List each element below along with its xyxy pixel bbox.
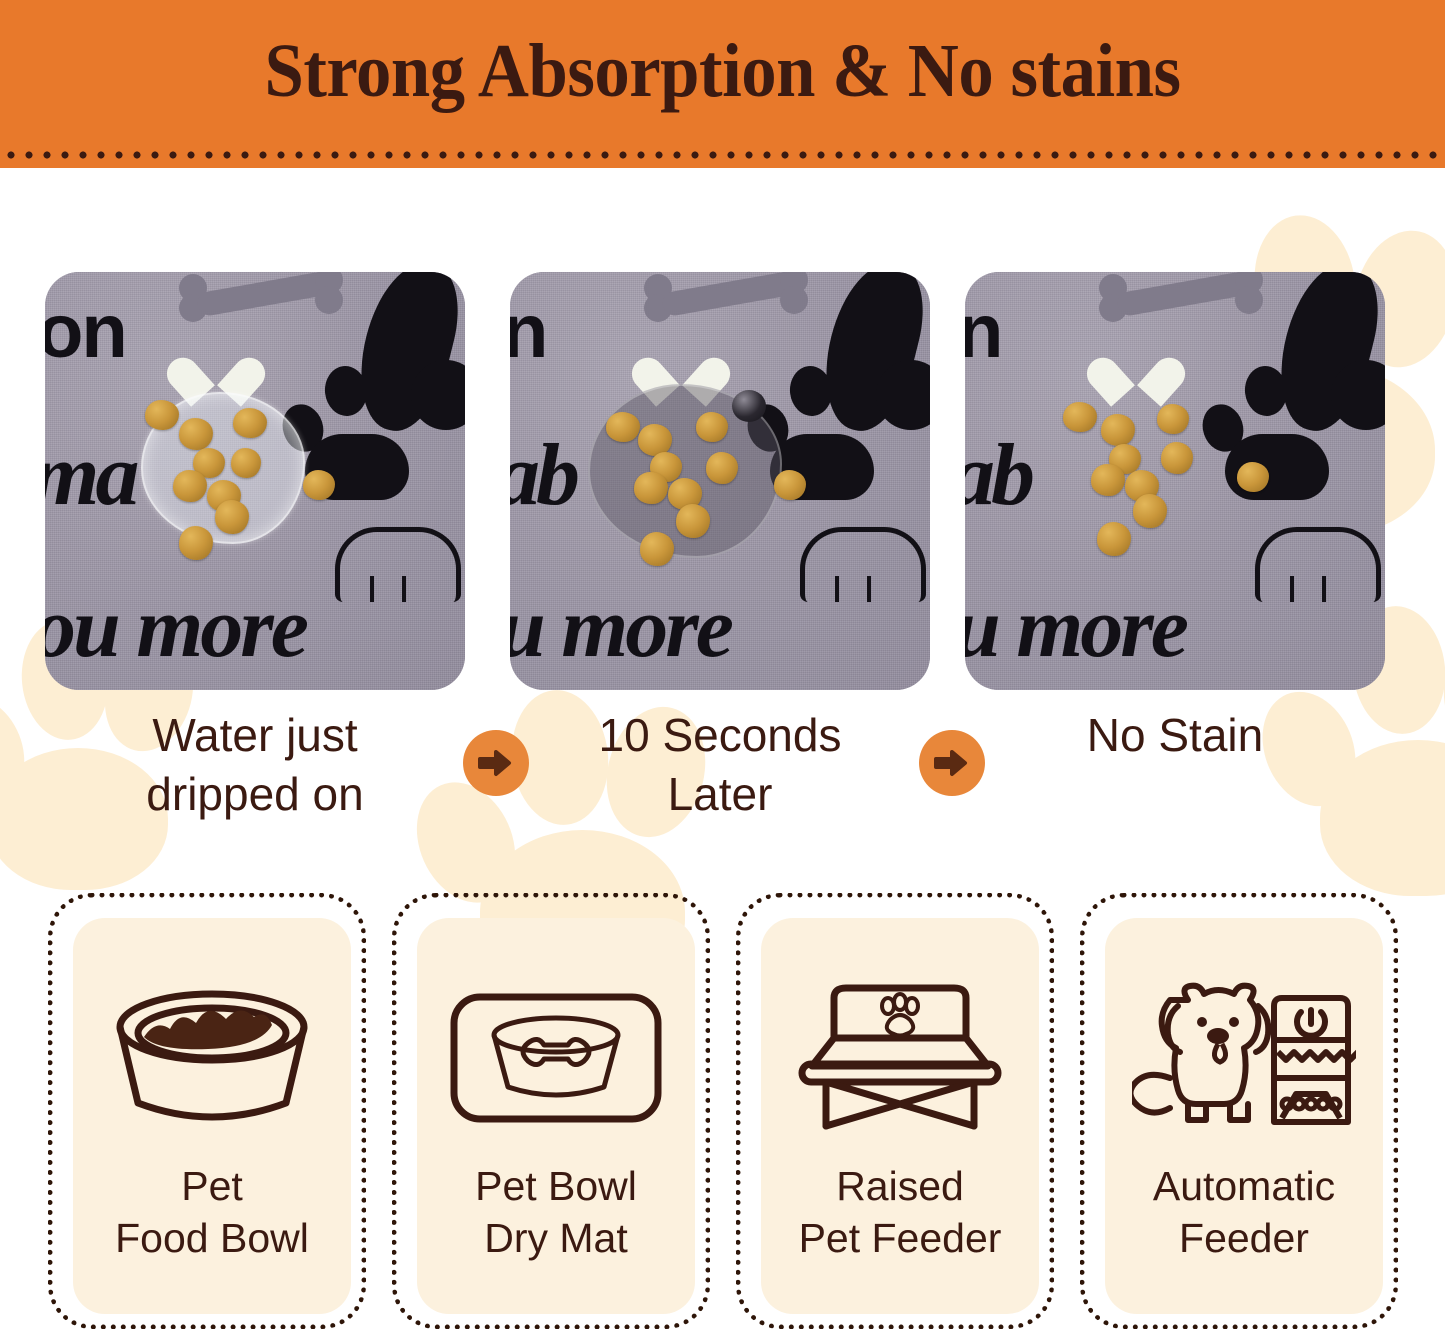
mat-text-bottom: u more [965, 584, 1186, 670]
dog-paw-outline-icon [335, 527, 461, 602]
infographic-page: Strong Absorption & No stains on ma ou m… [0, 0, 1445, 1342]
header-dotted-divider [0, 148, 1445, 162]
demo-photo-step-2: n ab u more [510, 272, 930, 690]
mat-text-top: on [45, 294, 126, 370]
heart-print-icon [1107, 350, 1165, 404]
dog-paw-outline-icon [800, 527, 926, 602]
absorption-demo-row: on ma ou more [0, 272, 1445, 690]
demo-captions: Water just dripped on 10 Seconds Later N… [0, 706, 1445, 836]
automatic-feeder-icon [1132, 970, 1356, 1146]
caption-step-3: No Stain [965, 706, 1385, 765]
bone-print-icon [1095, 272, 1270, 318]
use-case-card-pet-food-bowl[interactable]: Pet Food Bowl [48, 893, 366, 1329]
dog-silhouette-icon [1279, 272, 1385, 492]
card-inner: Pet Bowl Dry Mat [417, 918, 695, 1314]
bone-print-icon [640, 272, 815, 318]
card-inner: Pet Food Bowl [73, 918, 351, 1314]
mat-text-bottom: u more [510, 584, 731, 670]
card-label: Raised Pet Feeder [799, 1160, 1002, 1265]
use-case-card-raised-pet-feeder[interactable]: Raised Pet Feeder [736, 893, 1054, 1329]
demo-photo-step-3: n ab u more [965, 272, 1385, 690]
mat-text-middle: ab [965, 432, 1031, 520]
bone-print-icon [175, 272, 350, 318]
pet-food-bowl-icon [104, 970, 320, 1146]
card-label: Pet Food Bowl [115, 1160, 309, 1265]
card-label: Pet Bowl Dry Mat [475, 1160, 637, 1265]
use-case-card-automatic-feeder[interactable]: Automatic Feeder [1080, 893, 1398, 1329]
raised-pet-feeder-icon [792, 970, 1008, 1146]
mat-text-middle: ab [510, 432, 576, 520]
card-inner: Raised Pet Feeder [761, 918, 1039, 1314]
page-title: Strong Absorption & No stains [51, 28, 1395, 115]
caption-step-2: 10 Seconds Later [510, 706, 930, 824]
mat-text-middle: ma [45, 432, 135, 520]
pet-bowl-dry-mat-icon [448, 970, 664, 1146]
water-bubble [732, 390, 766, 422]
dog-paw-outline-icon [1255, 527, 1381, 602]
dog-silhouette-icon [824, 272, 930, 492]
use-case-card-pet-bowl-dry-mat[interactable]: Pet Bowl Dry Mat [392, 893, 710, 1329]
mat-text-bottom: ou more [45, 584, 306, 670]
use-case-cards: Pet Food Bowl Pet [0, 893, 1445, 1333]
header-banner: Strong Absorption & No stains [0, 0, 1445, 168]
card-inner: Automatic Feeder [1105, 918, 1383, 1314]
demo-photo-step-1: on ma ou more [45, 272, 465, 690]
mat-text-top: n [965, 294, 1001, 370]
caption-step-1: Water just dripped on [45, 706, 465, 824]
card-label: Automatic Feeder [1153, 1160, 1335, 1265]
mat-text-top: n [510, 294, 546, 370]
dog-silhouette-icon [359, 272, 465, 492]
